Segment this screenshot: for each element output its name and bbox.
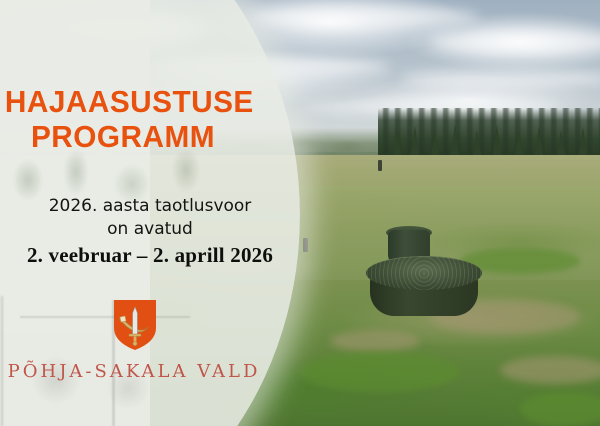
marker-post [303,238,308,252]
municipality-name: PÕHJA-SAKALA VALD [0,361,268,382]
poster-root: HAJAASUSTUSE PROGRAMM 2026. aasta taotlu… [0,0,600,426]
coat-of-arms [112,298,158,352]
grass-tuft [520,392,600,426]
text-content-column: HAJAASUSTUSE PROGRAMM 2026. aasta taotlu… [0,0,300,426]
page-title: HAJAASUSTUSE PROGRAMM [5,84,241,154]
cloud-streak [400,70,600,88]
shield-icon [112,298,158,352]
marker-post [378,160,382,171]
application-period-dates: 2. veebruar – 2. aprill 2026 [0,243,300,268]
dirt-patch [500,356,600,384]
grass-tuft [300,352,460,392]
subtitle-text: 2026. aasta taotlusvoor on avatud [0,195,300,241]
dirt-patch [330,330,420,352]
septic-tank-large-lid [366,256,482,290]
